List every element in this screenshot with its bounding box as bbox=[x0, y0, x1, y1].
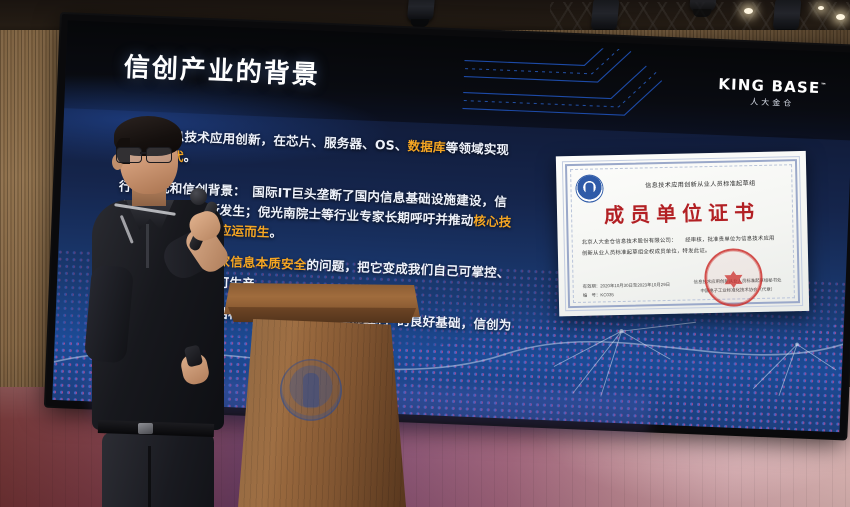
trouser-seam bbox=[148, 446, 151, 507]
stage-light bbox=[591, 0, 620, 32]
presentation-photo: 信创产业的背景 KING BASE™ 人大金仓 bbox=[0, 0, 850, 507]
seal-star-icon bbox=[724, 271, 742, 284]
light-bulb bbox=[744, 8, 753, 14]
kingbase-logo: KING BASE™ 人大金仓 bbox=[717, 75, 828, 110]
left-sleeve bbox=[84, 264, 134, 363]
certificate-image: 信息技术应用创新从业人员标准起草组 成员单位证书 北京人大金仓信息技术股份有限公… bbox=[556, 151, 809, 316]
glasses-icon bbox=[116, 147, 178, 162]
presenter-legs bbox=[102, 432, 214, 507]
text-segment: 。 bbox=[269, 225, 282, 241]
highlighted-text: 数据库 bbox=[407, 138, 446, 155]
microphone-head-icon bbox=[190, 188, 207, 205]
stage-light bbox=[773, 0, 802, 32]
university-emblem-icon bbox=[280, 359, 342, 421]
stage-light bbox=[407, 0, 435, 22]
trademark-icon: ™ bbox=[820, 82, 827, 89]
belt-buckle bbox=[138, 423, 153, 434]
text-segment: 等领域实现 bbox=[445, 140, 509, 158]
certificate-footer-left: 有效期：2020年10月30日至2023年10月29日 编 号：KC035 bbox=[583, 281, 671, 300]
certificate-title: 成员单位证书 bbox=[557, 195, 808, 229]
light-bulb bbox=[818, 6, 824, 10]
logo-text: KING BASE™ bbox=[718, 75, 828, 97]
light-bulb bbox=[836, 14, 845, 20]
shirt-placket bbox=[146, 224, 149, 268]
presenter bbox=[86, 116, 256, 507]
